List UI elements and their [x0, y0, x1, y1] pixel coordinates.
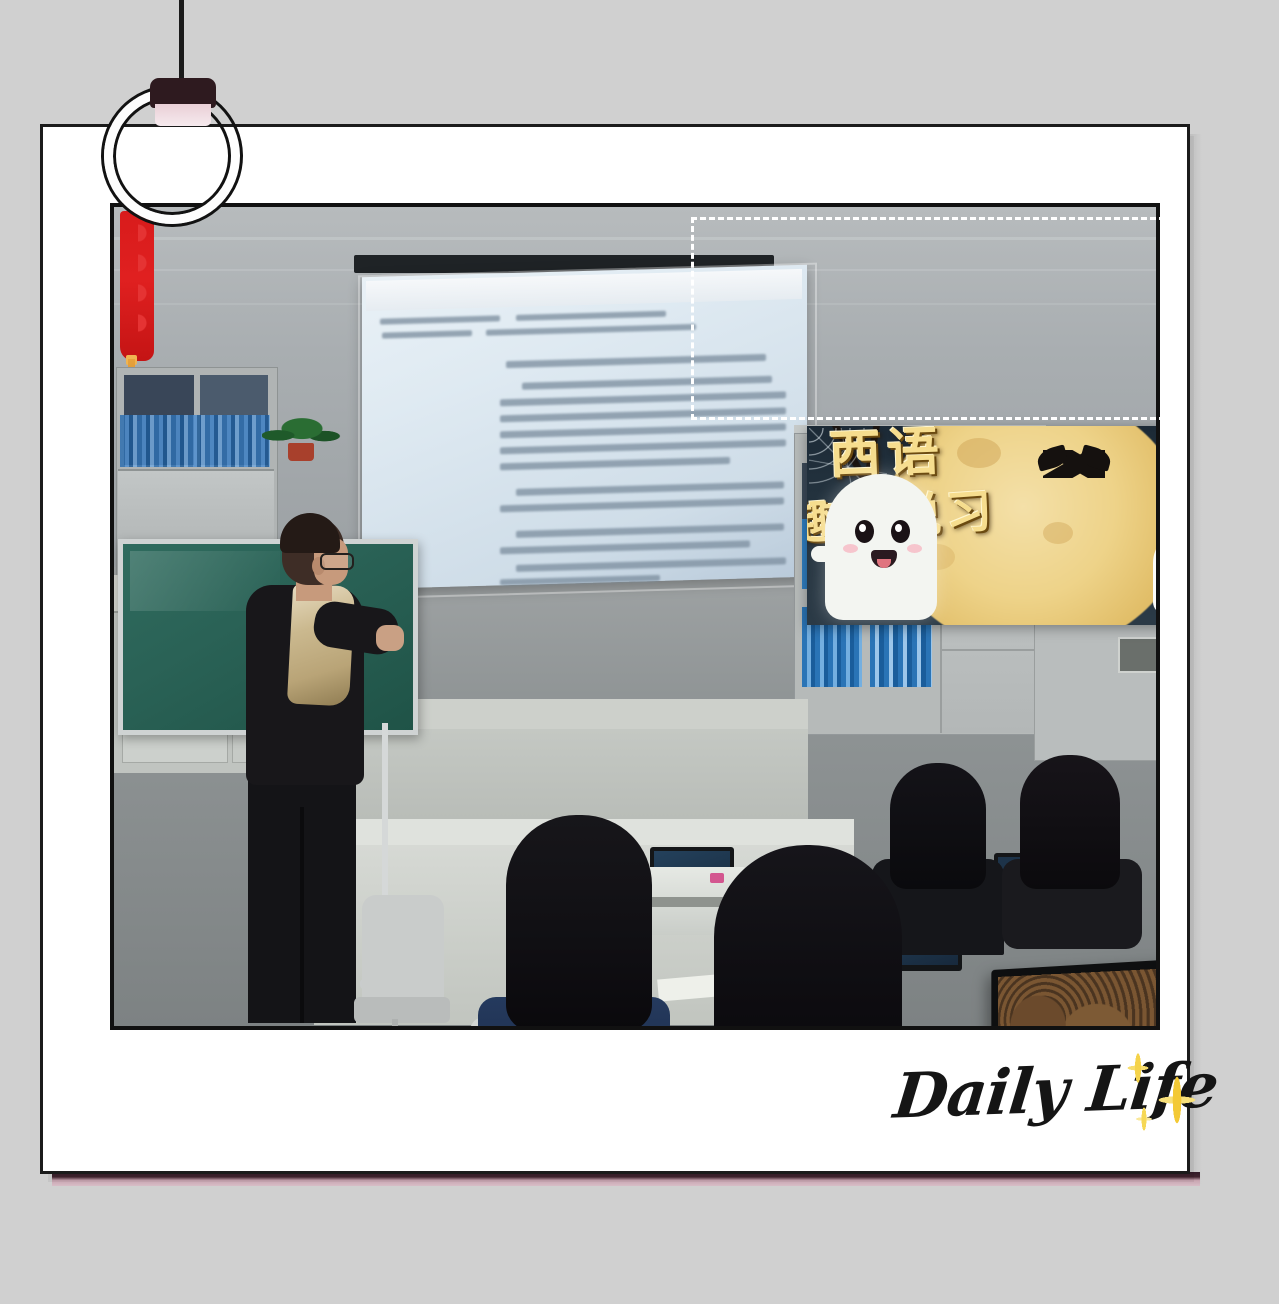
teacher-leg-seam [300, 807, 304, 1023]
moon-crater-1 [957, 438, 1001, 468]
halloween-banner-overlay: 西语 趣十说习 [807, 426, 1160, 625]
teacher-glasses [320, 553, 354, 570]
red-lantern-scallops [138, 221, 158, 351]
ghost-large-eye-left-highlight [859, 524, 866, 532]
left-plant-pot [288, 443, 314, 461]
left-cabinet-binders [120, 415, 270, 467]
card-shadow-bottom [52, 1172, 1200, 1186]
card-shadow-right [1190, 134, 1202, 1184]
lamp-glow [155, 104, 211, 126]
projector-screen-edge [358, 263, 817, 600]
hanging-lamp [122, 0, 312, 210]
ghost-large-eye-right-highlight [895, 524, 902, 532]
student-2-hair [714, 845, 902, 1030]
classroom-photograph: 西语 趣十说习 [110, 203, 1160, 1030]
teacher-hand [376, 625, 404, 651]
student-1-hair [506, 815, 652, 1030]
ceiling-seam-1 [114, 237, 1156, 240]
wall-picture [1118, 637, 1160, 673]
ghost-large-cheek-right [907, 544, 922, 553]
tree-branch-right [1131, 500, 1160, 546]
office-chair-seat [354, 997, 450, 1023]
signature: Daily Life [895, 1048, 1185, 1144]
office-chair-column [392, 1019, 398, 1030]
ghost-small-tail [1153, 598, 1160, 618]
ghost-large-eye-left [855, 520, 874, 543]
left-potted-plant [262, 415, 342, 461]
ghost-large-arm [811, 546, 833, 562]
student-4-hair [1020, 755, 1120, 889]
ghost-large-eye-right [891, 520, 910, 543]
printer-button [710, 873, 724, 883]
cabinet-door-seam-2 [942, 649, 1034, 651]
moon-crater-2 [1043, 522, 1073, 544]
sparkles-icon-tiny [1131, 1100, 1157, 1138]
ghost-large-cheek-left [843, 544, 858, 553]
ghost-large-tail [825, 594, 937, 624]
lamp-cord [179, 0, 184, 82]
student-3-hair [890, 763, 986, 889]
foreground-monitor-screen-leopard-wallpaper [998, 969, 1160, 1030]
